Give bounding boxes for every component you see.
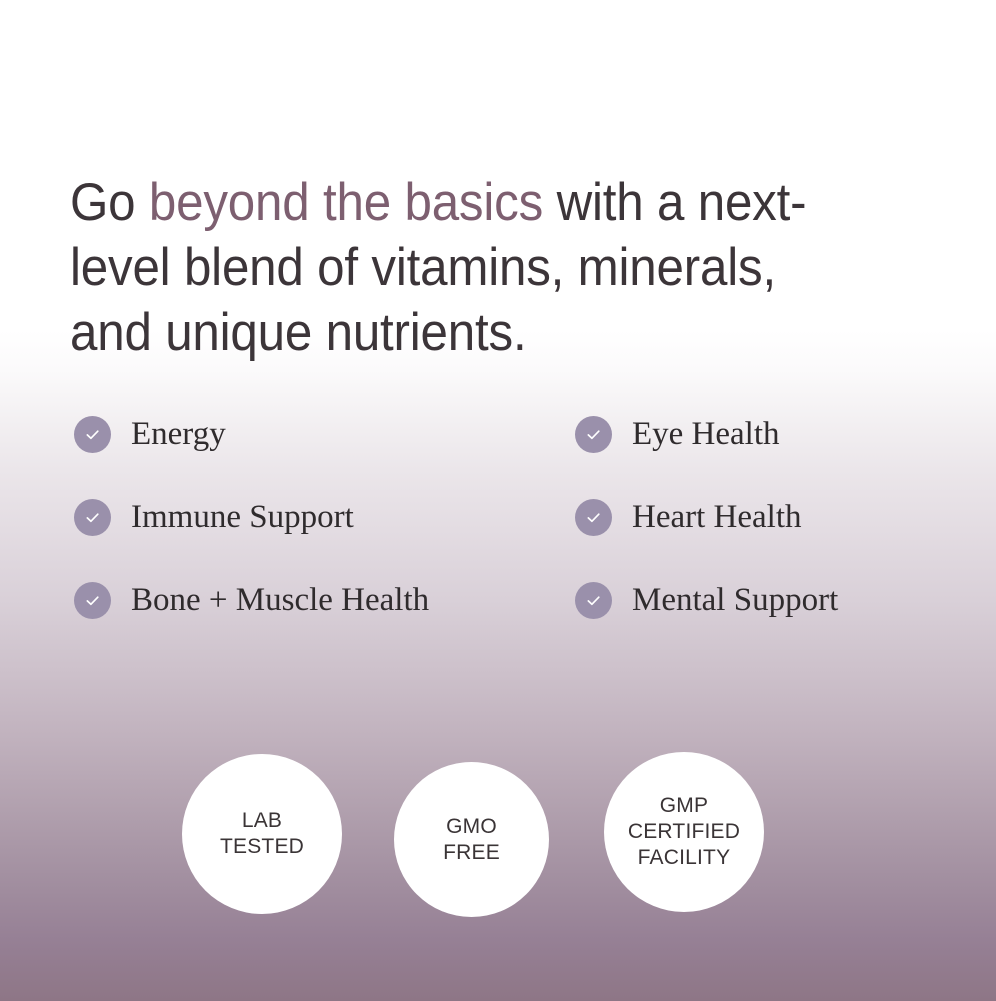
list-item-label: Mental Support: [632, 582, 838, 619]
headline-lead: Go: [70, 173, 149, 232]
page-title: Go beyond the basics with a next-level b…: [70, 170, 870, 365]
headline-accent: beyond the basics: [149, 173, 543, 232]
check-icon: [74, 499, 111, 536]
list-item: Bone + Muscle Health: [74, 580, 429, 620]
list-item: Eye Health: [575, 414, 838, 454]
badge-label: GMO FREE: [443, 814, 500, 866]
benefits-list: Energy Immune Support Bone + Muscle Heal…: [0, 414, 996, 644]
list-item-label: Immune Support: [131, 499, 354, 536]
list-item-label: Eye Health: [632, 416, 780, 453]
list-item: Heart Health: [575, 497, 838, 537]
benefits-column-right: Eye Health Heart Health Mental Support: [575, 414, 838, 663]
list-item: Immune Support: [74, 497, 429, 537]
list-item-label: Heart Health: [632, 499, 802, 536]
list-item: Mental Support: [575, 580, 838, 620]
list-item: Energy: [74, 414, 429, 454]
check-icon: [575, 416, 612, 453]
benefits-column-left: Energy Immune Support Bone + Muscle Heal…: [74, 414, 429, 663]
badge-gmp-certified-facility: GMP CERTIFIED FACILITY: [604, 752, 764, 912]
check-icon: [575, 499, 612, 536]
badge-label: LAB TESTED: [220, 808, 304, 860]
check-icon: [74, 416, 111, 453]
list-item-label: Bone + Muscle Health: [131, 582, 429, 619]
badge-lab-tested: LAB TESTED: [182, 754, 342, 914]
badge-gmo-free: GMO FREE: [394, 762, 549, 917]
check-icon: [74, 582, 111, 619]
promo-panel: Go beyond the basics with a next-level b…: [0, 0, 996, 1001]
check-icon: [575, 582, 612, 619]
list-item-label: Energy: [131, 416, 226, 453]
certification-badges: LAB TESTED GMO FREE GMP CERTIFIED FACILI…: [0, 752, 996, 917]
badge-label: GMP CERTIFIED FACILITY: [628, 793, 740, 871]
